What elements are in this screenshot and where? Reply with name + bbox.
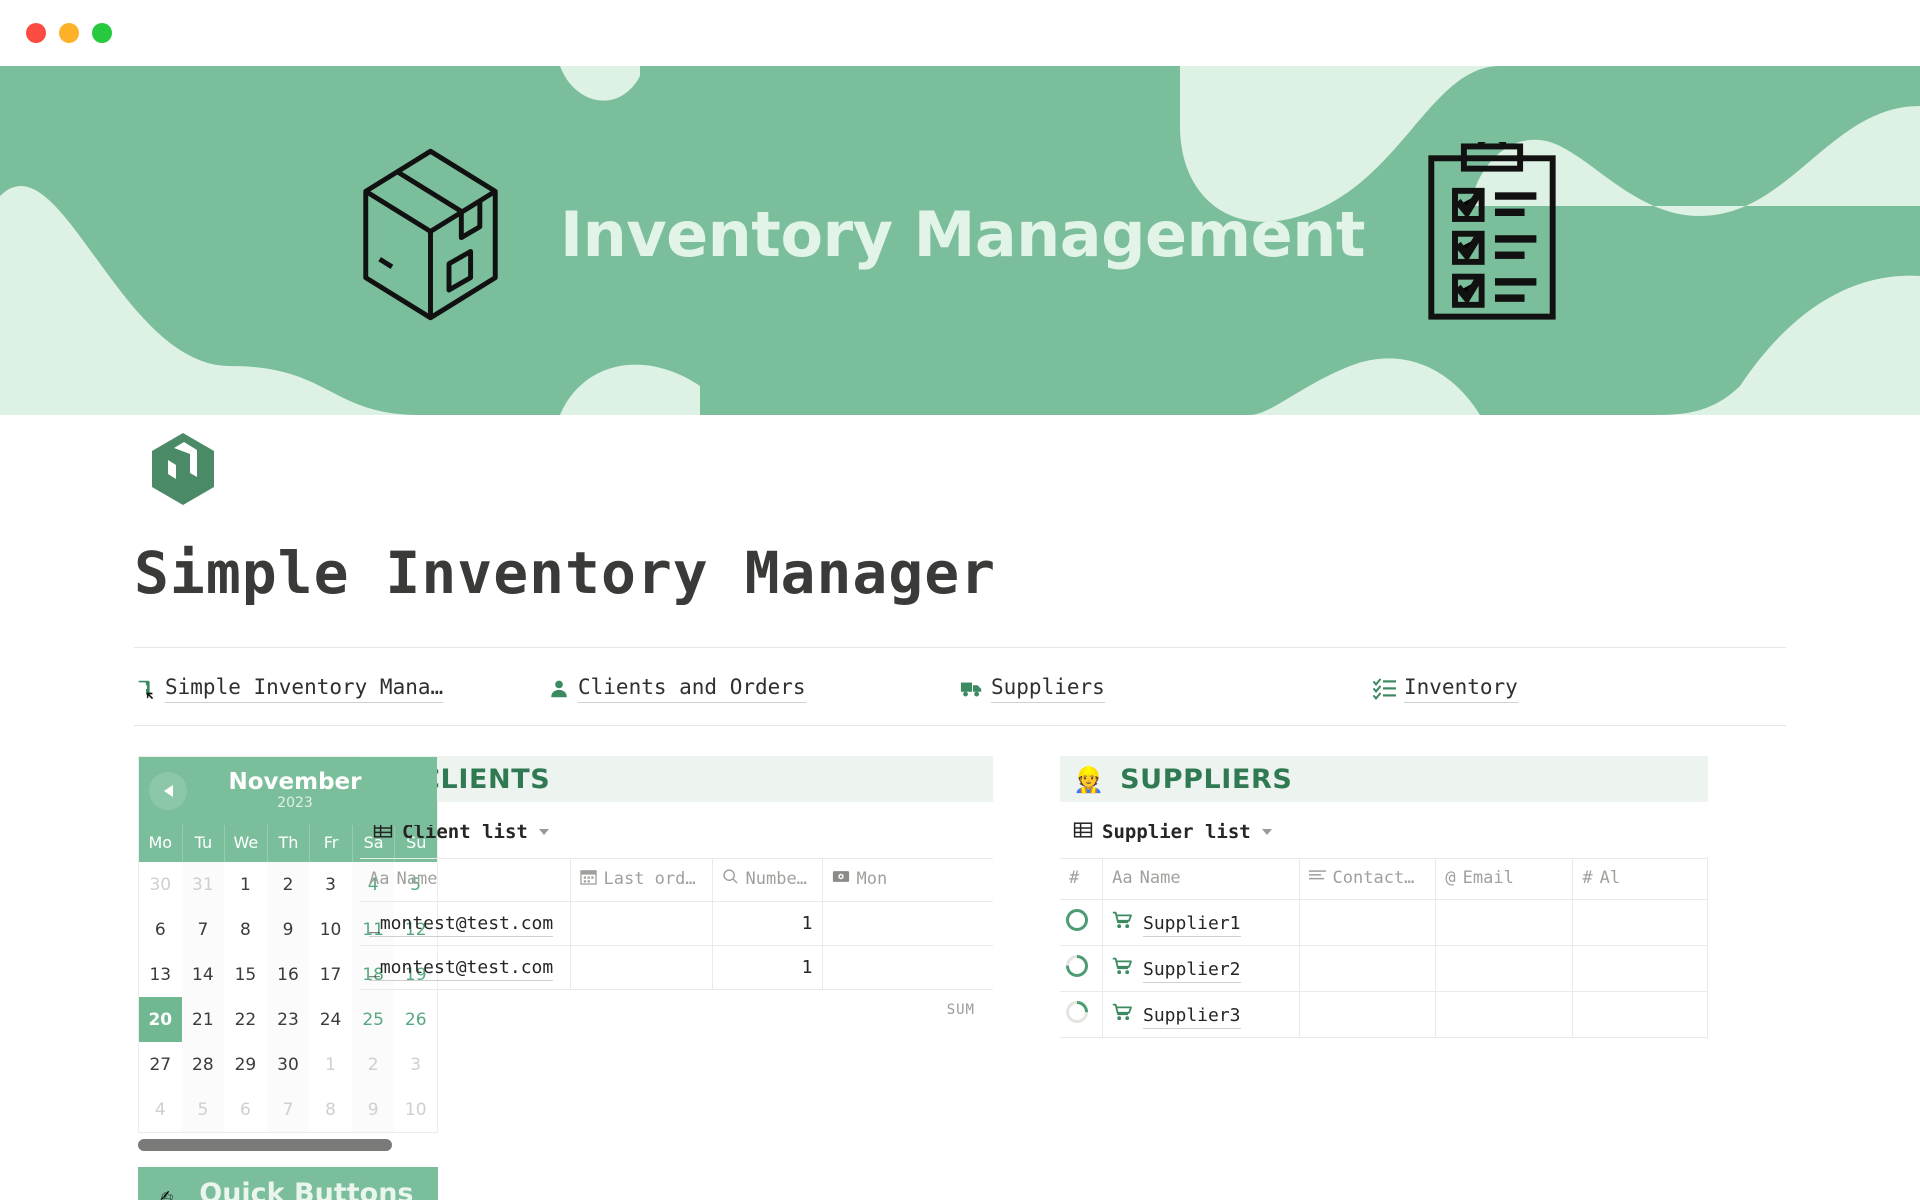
clients-col-last-order[interactable]: Last ord… (570, 859, 712, 902)
calendar-day-cell[interactable]: 29 (224, 1042, 267, 1087)
clients-col-money-label: Mon (857, 869, 888, 889)
calendar-header: November 2023 (139, 757, 437, 825)
suppliers-col-contact-label: Contact… (1333, 868, 1415, 888)
clients-col-number[interactable]: Numbe… (712, 859, 822, 902)
clients-table-header-row: Aa Name Last ord… (360, 859, 993, 902)
clients-view-selector[interactable]: Client list (360, 802, 993, 858)
clients-table[interactable]: Aa Name Last ord… (360, 858, 993, 990)
nav-tab-label: Suppliers (991, 675, 1105, 703)
package-box-icon (353, 142, 508, 327)
calendar-day-cell[interactable]: 8 (309, 1087, 352, 1132)
suppliers-view-selector[interactable]: Supplier list (1060, 802, 1708, 858)
calendar-day-cell[interactable]: 1 (309, 1042, 352, 1087)
nav-tab-label: Simple Inventory Mana… (165, 675, 443, 703)
calendar-day-cell[interactable]: 14 (182, 952, 225, 997)
banner-title: Inventory Management (560, 198, 1365, 271)
client-money-cell[interactable] (822, 902, 993, 946)
suppliers-column: 👷 SUPPLIERS Supplier list (1060, 756, 1920, 1200)
pointer-hand-icon: ✍ (160, 1185, 173, 1200)
at-sign-icon: @ (1445, 868, 1455, 888)
nav-tab-label: Clients and Orders (578, 675, 806, 703)
client-money-cell[interactable] (822, 946, 993, 990)
table-row[interactable]: Supplier2 (1060, 946, 1708, 992)
supplier-progress-cell[interactable] (1060, 946, 1103, 992)
supplier-name-link[interactable]: Supplier2 (1143, 959, 1241, 983)
calendar-day-cell[interactable]: 23 (267, 997, 310, 1042)
calendar-day-cell[interactable]: 16 (267, 952, 310, 997)
table-row[interactable]: Supplier3 (1060, 992, 1708, 1038)
calendar-day-today[interactable]: 20 (139, 997, 182, 1042)
calendar-column: November 2023 MoTuWeThFrSaSu 30311234567… (0, 756, 360, 1200)
calendar-horizontal-scrollbar[interactable] (138, 1139, 392, 1151)
window-titlebar (0, 0, 1920, 66)
supplier-contact-cell[interactable] (1299, 946, 1436, 992)
worker-emoji-icon: 👷 (1073, 767, 1104, 792)
progress-ring-icon (1064, 953, 1090, 979)
page-link-icon (134, 677, 158, 701)
calendar-prev-button[interactable] (149, 772, 187, 810)
calendar-day-cell[interactable]: 24 (309, 997, 352, 1042)
cart-icon (1112, 1003, 1132, 1021)
hash-icon: # (1582, 868, 1592, 888)
nav-tab-suppliers[interactable]: Suppliers (960, 675, 1373, 703)
calendar-day-cell[interactable]: 8 (224, 907, 267, 952)
cart-icon (1112, 911, 1132, 929)
clients-sum-label: SUM (947, 1002, 975, 1018)
minimize-window-button[interactable] (59, 23, 79, 43)
table-row[interactable]: _montest@test.com1 (360, 902, 993, 946)
client-name-cell[interactable]: _montest@test.com (360, 902, 570, 946)
clients-section-header: 👤 CLIENTS (360, 756, 993, 802)
cart-icon (1112, 957, 1132, 975)
client-name-link[interactable]: _montest@test.com (369, 913, 553, 937)
page-body: Simple Inventory Manager Simple Inventor… (0, 415, 1920, 1200)
supplier-progress-cell[interactable] (1060, 900, 1103, 946)
nav-tab-simple-inventory-manager[interactable]: Simple Inventory Mana… (134, 675, 547, 703)
suppliers-col-name[interactable]: Aa Name (1103, 859, 1299, 900)
supplier-name-cell[interactable]: Supplier1 (1103, 900, 1299, 946)
client-number-cell[interactable]: 1 (712, 946, 822, 990)
calendar-icon (580, 868, 597, 890)
calendar-day-cell[interactable]: 3 (309, 862, 352, 907)
calendar-weekday-fr: Fr (309, 825, 352, 862)
suppliers-col-email[interactable]: @ Email (1436, 859, 1573, 900)
main-content: November 2023 MoTuWeThFrSaSu 30311234567… (0, 726, 1920, 1200)
calendar-weekday-th: Th (267, 825, 310, 862)
client-name-link[interactable]: _montest@test.com (369, 957, 553, 981)
person-icon (547, 677, 571, 701)
calendar-day-cell[interactable]: 1 (224, 862, 267, 907)
suppliers-panel: 👷 SUPPLIERS Supplier list (1060, 756, 1708, 1038)
suppliers-view-label: Supplier list (1102, 821, 1251, 843)
close-window-button[interactable] (26, 23, 46, 43)
calendar-day-cell[interactable]: 5 (182, 1087, 225, 1132)
suppliers-col-al[interactable]: # Al (1573, 859, 1708, 900)
client-name-cell[interactable]: _montest@test.com (360, 946, 570, 990)
clipboard-checklist-icon (1417, 142, 1567, 327)
calendar-day-cell[interactable]: 21 (182, 997, 225, 1042)
clients-column: 👤 CLIENTS Client list (360, 756, 1060, 1200)
clients-section-title: CLIENTS (420, 764, 550, 795)
chevron-down-icon[interactable] (1262, 829, 1272, 835)
calendar-day-cell[interactable]: 28 (182, 1042, 225, 1087)
supplier-email-cell[interactable] (1436, 992, 1573, 1038)
clients-col-name[interactable]: Aa Name (360, 859, 570, 902)
calendar-day-cell[interactable]: 4 (139, 1087, 182, 1132)
supplier-al-cell[interactable] (1573, 900, 1708, 946)
calendar-day-cell[interactable]: 6 (139, 907, 182, 952)
calendar-day-cell[interactable]: 17 (309, 952, 352, 997)
calendar-day-cell[interactable]: 6 (224, 1087, 267, 1132)
supplier-al-cell[interactable] (1573, 946, 1708, 992)
supplier-email-cell[interactable] (1436, 900, 1573, 946)
inventory-cube-logo (152, 433, 214, 505)
clients-col-money[interactable]: Mon (822, 859, 993, 902)
supplier-name-cell[interactable]: Supplier3 (1103, 992, 1299, 1038)
text-type-icon: Aa (1112, 868, 1132, 888)
money-icon (832, 868, 850, 890)
calendar-month-label: November (187, 770, 403, 794)
clients-col-last-order-label: Last ord… (604, 869, 696, 889)
suppliers-table[interactable]: # Aa Name Contact… (1060, 858, 1708, 1038)
supplier-al-cell[interactable] (1573, 992, 1708, 1038)
client-last-order-cell[interactable] (570, 946, 712, 990)
client-last-order-cell[interactable] (570, 902, 712, 946)
search-icon (722, 868, 739, 890)
supplier-progress-cell[interactable] (1060, 992, 1103, 1038)
clients-panel: 👤 CLIENTS Client list (360, 756, 993, 1018)
calendar-day-cell[interactable]: 9 (267, 907, 310, 952)
page-title: Simple Inventory Manager (0, 509, 1920, 607)
chevron-left-icon (164, 785, 173, 797)
table-row[interactable]: _montest@test.com1 (360, 946, 993, 990)
suppliers-section-header: 👷 SUPPLIERS (1060, 756, 1708, 802)
suppliers-table-header-row: # Aa Name Contact… (1060, 859, 1708, 900)
supplier-name-cell[interactable]: Supplier2 (1103, 946, 1299, 992)
calendar-day-cell[interactable]: 30 (267, 1042, 310, 1087)
truck-icon (960, 677, 984, 701)
nav-tabs: Simple Inventory Mana… Clients and Order… (0, 648, 1920, 703)
supplier-email-cell[interactable] (1436, 946, 1573, 992)
calendar-title: November 2023 (187, 770, 427, 812)
calendar-day-cell[interactable]: 13 (139, 952, 182, 997)
calendar-day-cell[interactable]: 10 (309, 907, 352, 952)
calendar-weekday-we: We (224, 825, 267, 862)
maximize-window-button[interactable] (92, 23, 112, 43)
suppliers-col-al-label: Al (1600, 868, 1620, 888)
page-icon-wrapper (0, 415, 1920, 509)
nav-tab-clients-and-orders[interactable]: Clients and Orders (547, 675, 960, 703)
supplier-contact-cell[interactable] (1299, 992, 1436, 1038)
calendar-year-label: 2023 (187, 794, 403, 812)
calendar-day-cell[interactable]: 2 (267, 862, 310, 907)
text-lines-icon (1309, 868, 1326, 888)
progress-ring-icon (1064, 907, 1090, 933)
client-number-cell[interactable]: 1 (712, 902, 822, 946)
calendar-day-cell[interactable]: 15 (224, 952, 267, 997)
calendar-day-cell[interactable]: 30 (139, 862, 182, 907)
hash-icon: # (1069, 868, 1079, 888)
page-cover-banner: Inventory Management (0, 66, 1920, 415)
calendar-weekday-tu: Tu (182, 825, 225, 862)
suppliers-col-email-label: Email (1463, 868, 1514, 888)
nav-tab-inventory[interactable]: Inventory (1373, 675, 1786, 703)
suppliers-col-index[interactable]: # (1060, 859, 1103, 900)
chevron-down-icon[interactable] (539, 829, 549, 835)
calendar-day-cell[interactable]: 27 (139, 1042, 182, 1087)
calendar-day-cell[interactable]: 7 (267, 1087, 310, 1132)
text-type-icon: Aa (369, 869, 389, 889)
calendar-weekday-mo: Mo (139, 825, 182, 862)
suppliers-col-contact[interactable]: Contact… (1299, 859, 1436, 900)
supplier-name-link[interactable]: Supplier1 (1143, 913, 1241, 937)
supplier-name-link[interactable]: Supplier3 (1143, 1005, 1241, 1029)
progress-ring-icon (1064, 999, 1090, 1025)
table-row[interactable]: Supplier1 (1060, 900, 1708, 946)
clients-col-number-label: Numbe… (746, 869, 807, 889)
calendar-day-cell[interactable]: 22 (224, 997, 267, 1042)
suppliers-section-title: SUPPLIERS (1120, 764, 1292, 795)
calendar-day-cell[interactable]: 7 (182, 907, 225, 952)
clients-col-name-label: Name (396, 869, 437, 889)
nav-tab-label: Inventory (1404, 675, 1518, 703)
suppliers-col-name-label: Name (1140, 868, 1181, 888)
clients-sum-row: SUM (360, 990, 993, 1018)
table-icon (1073, 820, 1093, 844)
supplier-contact-cell[interactable] (1299, 900, 1436, 946)
calendar-day-cell[interactable]: 31 (182, 862, 225, 907)
checklist-icon (1373, 677, 1397, 701)
